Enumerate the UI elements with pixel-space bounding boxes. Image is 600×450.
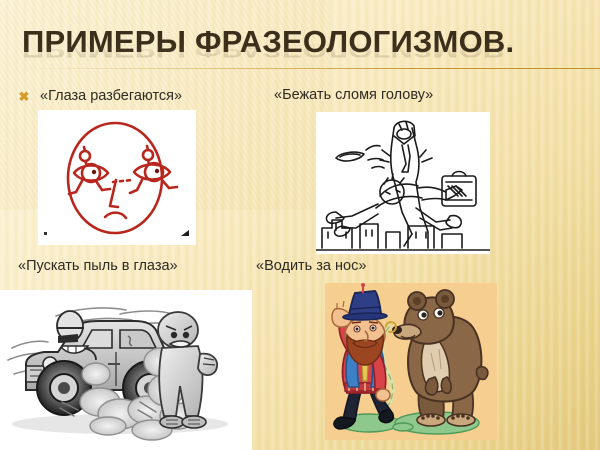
title-block: Примеры фразеологизмов. Примеры фразеоло…	[22, 26, 582, 88]
drawing-car-throwing-dust	[0, 290, 252, 450]
man-running-headlong-artwork	[316, 112, 490, 254]
title-divider-rule	[22, 68, 600, 69]
car-throwing-dust-artwork	[0, 290, 252, 450]
x-bullet-icon: ✖	[18, 91, 30, 103]
drawing-man-running-headlong	[316, 112, 490, 254]
presentation-slide: Примеры фразеологизмов. Примеры фразеоло…	[0, 0, 600, 450]
page-title: Примеры фразеологизмов.	[22, 26, 582, 57]
eyes-running-away-artwork	[38, 110, 196, 245]
caption-puskat-pyl-v-glaza: «Пускать пыль в глаза»	[18, 258, 178, 274]
drawing-man-leading-bear	[325, 283, 497, 440]
scan-dot-mark	[44, 232, 47, 235]
caption-glaza-razbegayutsya: «Глаза разбегаются»	[40, 88, 182, 104]
drawing-eyes-running-away	[38, 110, 196, 245]
caption-bezhat-slomya-golovu: «Бежать сломя голову»	[274, 87, 433, 103]
man-leading-bear-artwork	[325, 283, 497, 440]
scan-corner-mark	[181, 230, 189, 236]
caption-vodit-za-nos: «Водить за нос»	[256, 258, 366, 274]
